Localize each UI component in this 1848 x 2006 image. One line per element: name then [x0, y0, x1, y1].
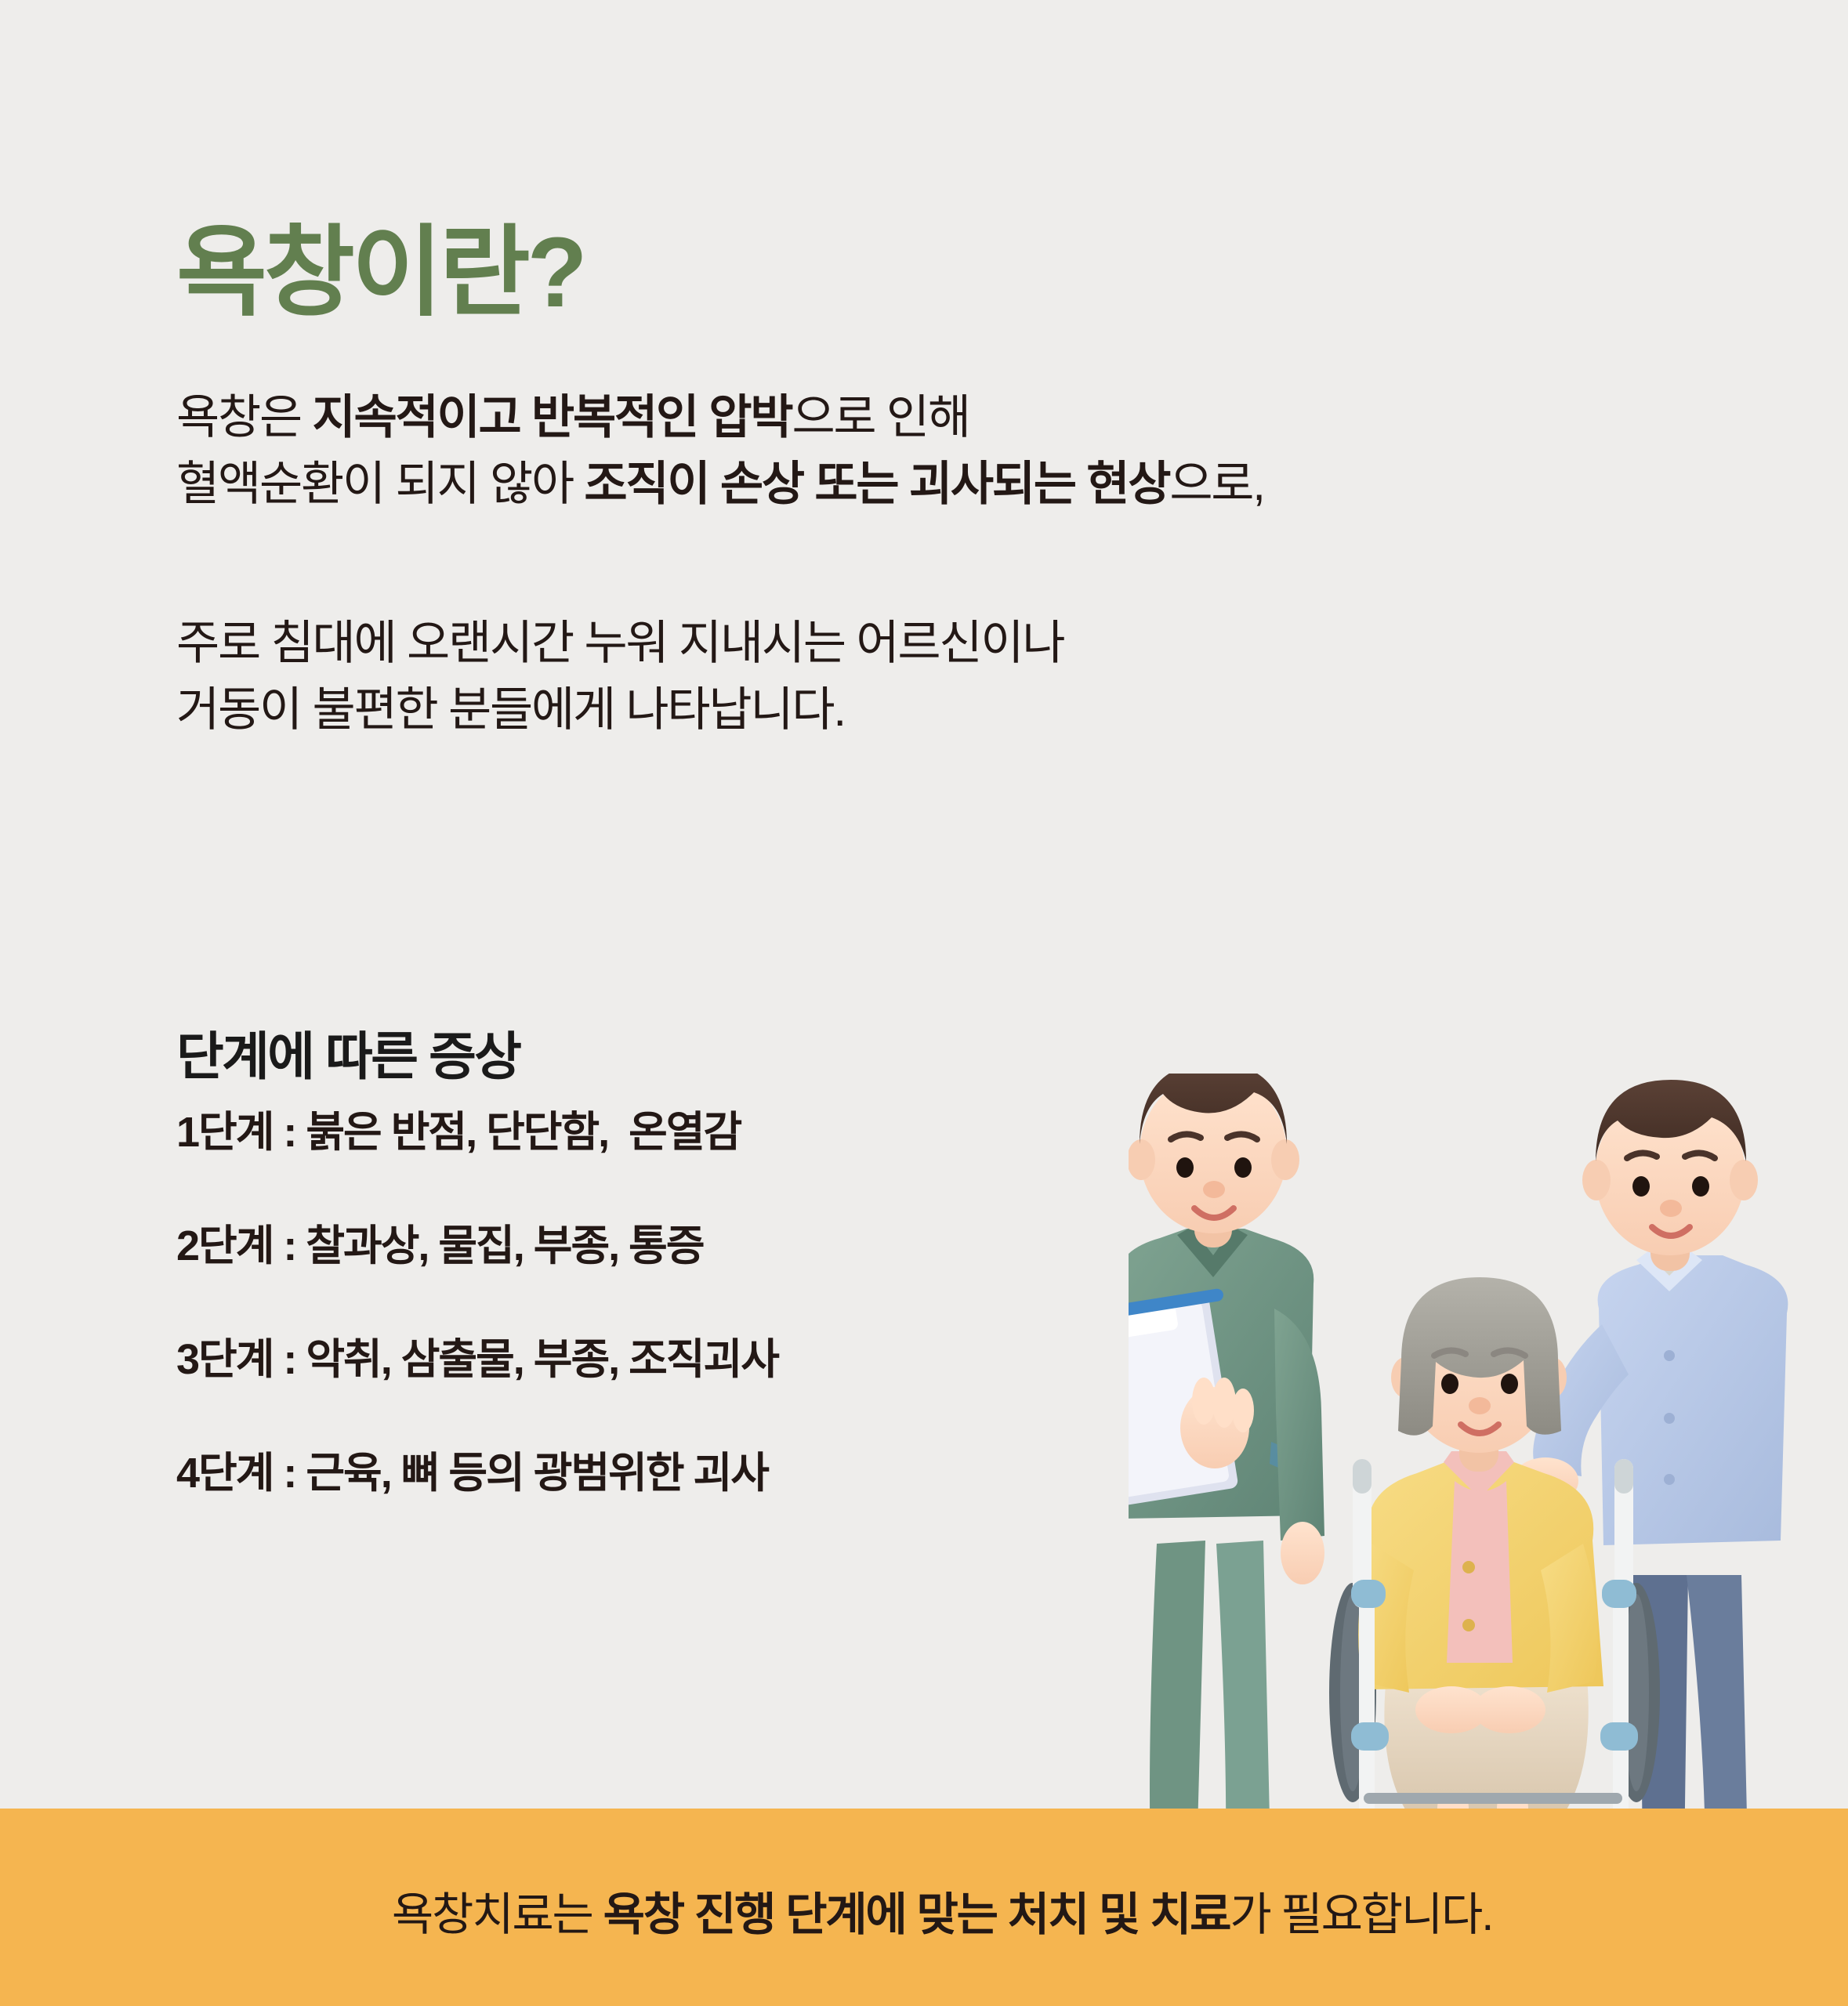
stage-item-4: 4단계 : 근육, 뼈 등의 광범위한 괴사	[176, 1452, 1195, 1566]
infographic-page: 욕창이란? 욕창은 지속적이고 반복적인 압박으로 인해 혈액순환이 되지 않아…	[0, 0, 1848, 2006]
intro-p1-l1-text-b: 으로 인해	[792, 391, 969, 444]
intro-p1-l2-text-a: 혈액순환이 되지 않아	[176, 458, 584, 510]
banner-text-a: 욕창치료는	[392, 1889, 603, 1940]
stage-symptom-list: 1단계 : 붉은 반점, 단단함, 온열감 2단계 : 찰과상, 물집, 부종,…	[176, 1111, 1195, 1566]
banner-text-b: 가 필요합니다.	[1230, 1889, 1492, 1940]
stage-item-1: 1단계 : 붉은 반점, 단단함, 온열감	[176, 1111, 1195, 1225]
intro-p1-l1-text-a: 욕창은	[176, 391, 312, 444]
section-heading-symptoms-by-stage: 단계에 따른 증상	[176, 1015, 520, 1090]
banner-message: 욕창치료는 욕창 진행 단계에 맞는 처치 및 치료가 필요합니다.	[0, 1809, 1848, 1943]
intro-paragraph-2-line-1: 주로 침대에 오랜시간 누워 지내시는 어르신이나	[176, 610, 1064, 676]
intro-paragraph-2: 주로 침대에 오랜시간 누워 지내시는 어르신이나 거동이 불편한 분들에게 나…	[176, 610, 1064, 743]
page-title: 욕창이란?	[176, 221, 585, 324]
bottom-highlight-banner: 욕창치료는 욕창 진행 단계에 맞는 처치 및 치료가 필요합니다.	[0, 1809, 1848, 2006]
banner-emphasis: 욕창 진행 단계에 맞는 처치 및 치료	[603, 1889, 1230, 1940]
stage-item-3: 3단계 : 악취, 삼출물, 부종, 조직괴사	[176, 1338, 1195, 1452]
intro-p1-l1-emphasis: 지속적이고 반복적인 압박	[312, 391, 792, 444]
stage-item-2: 2단계 : 찰과상, 물집, 부종, 통증	[176, 1225, 1195, 1338]
intro-paragraph-1-line-2: 혈액순환이 되지 않아 조직이 손상 또는 괴사되는 현상으로,	[176, 451, 1264, 517]
wheelchair-rear-wheels	[1329, 1583, 1660, 1802]
intro-p1-l2-emphasis: 조직이 손상 또는 괴사되는 현상	[584, 458, 1169, 510]
intro-paragraph-1: 욕창은 지속적이고 반복적인 압박으로 인해 혈액순환이 되지 않아 조직이 손…	[176, 384, 1264, 517]
intro-paragraph-2-line-2: 거동이 불편한 분들에게 나타납니다.	[176, 676, 1064, 743]
intro-paragraph-1-line-1: 욕창은 지속적이고 반복적인 압박으로 인해	[176, 384, 1264, 451]
intro-p1-l2-text-b: 으로,	[1169, 458, 1263, 510]
caregiving-illustration	[1129, 1074, 1834, 1935]
figure-nurse	[1129, 1074, 1627, 1910]
figure-caregiver-man	[1513, 1080, 1788, 1920]
